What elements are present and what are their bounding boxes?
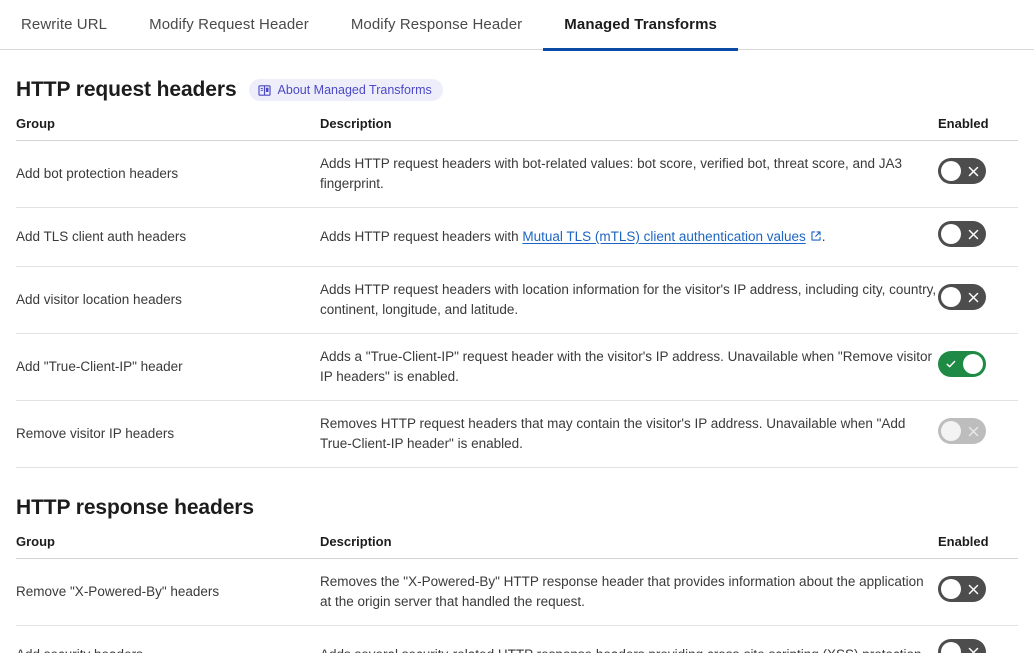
- table-row: Add security headers Adds several securi…: [16, 626, 1018, 653]
- toggle-add-true-client-ip-header[interactable]: [938, 351, 986, 377]
- tab-label: Managed Transforms: [564, 16, 717, 33]
- table-row: Add visitor location headers Adds HTTP r…: [16, 267, 1018, 334]
- description-text-before: Adds HTTP request headers with: [320, 229, 522, 244]
- toggle-remove-x-powered-by-headers[interactable]: [938, 576, 986, 602]
- row-group-label: Add bot protection headers: [16, 141, 320, 208]
- row-description: Adds a "True-Client-IP" request header w…: [320, 334, 938, 401]
- tab-label: Modify Request Header: [149, 16, 309, 33]
- tab-modify-request-header[interactable]: Modify Request Header: [128, 0, 330, 50]
- toggle-knob: [963, 354, 983, 374]
- mtls-documentation-link[interactable]: Mutual TLS (mTLS) client authentication …: [522, 229, 805, 244]
- column-header-enabled: Enabled: [938, 534, 1018, 559]
- table-row: Remove visitor IP headers Removes HTTP r…: [16, 401, 1018, 468]
- table-header-row: Group Description Enabled: [16, 116, 1018, 141]
- row-description: Adds several security-related HTTP respo…: [320, 626, 938, 653]
- section-title: HTTP response headers: [16, 496, 254, 520]
- page-content: HTTP request headers About Managed Trans…: [0, 78, 1034, 653]
- table-row: Add bot protection headers Adds HTTP req…: [16, 141, 1018, 208]
- toggle-knob: [941, 161, 961, 181]
- row-group-label: Remove visitor IP headers: [16, 401, 320, 468]
- column-header-group: Group: [16, 116, 320, 141]
- toggle-knob: [941, 287, 961, 307]
- row-enabled-cell: [938, 141, 1018, 208]
- row-enabled-cell: [938, 208, 1018, 267]
- toggle-knob: [941, 421, 961, 441]
- section-title: HTTP request headers: [16, 78, 237, 102]
- row-group-label: Add "True-Client-IP" header: [16, 334, 320, 401]
- tab-label: Modify Response Header: [351, 16, 522, 33]
- row-description: Adds HTTP request headers with location …: [320, 267, 938, 334]
- table-row: Remove "X-Powered-By" headers Removes th…: [16, 559, 1018, 626]
- table-row: Add "True-Client-IP" header Adds a "True…: [16, 334, 1018, 401]
- toggle-knob: [941, 642, 961, 653]
- external-link-icon[interactable]: [810, 228, 822, 248]
- cross-icon: [962, 576, 984, 602]
- row-group-label: Add TLS client auth headers: [16, 208, 320, 267]
- toggle-add-bot-protection-headers[interactable]: [938, 158, 986, 184]
- row-group-label: Remove "X-Powered-By" headers: [16, 559, 320, 626]
- section-header-request: HTTP request headers About Managed Trans…: [16, 78, 1018, 102]
- row-enabled-cell: [938, 267, 1018, 334]
- row-enabled-cell: [938, 559, 1018, 626]
- column-header-description: Description: [320, 534, 938, 559]
- tab-label: Rewrite URL: [21, 16, 107, 33]
- about-managed-transforms-badge[interactable]: About Managed Transforms: [249, 79, 443, 101]
- tab-managed-transforms[interactable]: Managed Transforms: [543, 0, 738, 50]
- check-icon: [940, 351, 962, 377]
- table-header-row: Group Description Enabled: [16, 534, 1018, 559]
- tab-modify-response-header[interactable]: Modify Response Header: [330, 0, 543, 50]
- toggle-knob: [941, 224, 961, 244]
- row-description: Adds HTTP request headers with bot-relat…: [320, 141, 938, 208]
- tab-bar: Rewrite URL Modify Request Header Modify…: [0, 0, 1034, 50]
- column-header-group: Group: [16, 534, 320, 559]
- toggle-add-visitor-location-headers[interactable]: [938, 284, 986, 310]
- toggle-remove-visitor-ip-headers: [938, 418, 986, 444]
- row-enabled-cell: [938, 334, 1018, 401]
- book-icon: [258, 84, 271, 97]
- cross-icon: [962, 639, 984, 653]
- column-header-description: Description: [320, 116, 938, 141]
- column-header-enabled: Enabled: [938, 116, 1018, 141]
- cross-icon: [962, 158, 984, 184]
- cross-icon: [962, 284, 984, 310]
- table-row: Add TLS client auth headers Adds HTTP re…: [16, 208, 1018, 267]
- cross-icon: [962, 418, 984, 444]
- row-enabled-cell: [938, 401, 1018, 468]
- row-enabled-cell: [938, 626, 1018, 653]
- toggle-add-security-headers[interactable]: [938, 639, 986, 653]
- request-headers-table: Group Description Enabled Add bot protec…: [16, 116, 1018, 468]
- response-headers-table: Group Description Enabled Remove "X-Powe…: [16, 534, 1018, 653]
- toggle-knob: [941, 579, 961, 599]
- badge-label: About Managed Transforms: [278, 84, 432, 97]
- cross-icon: [962, 221, 984, 247]
- row-group-label: Add security headers: [16, 626, 320, 653]
- row-description: Removes HTTP request headers that may co…: [320, 401, 938, 468]
- toggle-add-tls-client-auth-headers[interactable]: [938, 221, 986, 247]
- section-header-response: HTTP response headers: [16, 496, 1018, 520]
- description-text-after: .: [822, 229, 826, 244]
- row-group-label: Add visitor location headers: [16, 267, 320, 334]
- row-description: Removes the "X-Powered-By" HTTP response…: [320, 559, 938, 626]
- tab-rewrite-url[interactable]: Rewrite URL: [0, 0, 128, 50]
- row-description: Adds HTTP request headers with Mutual TL…: [320, 208, 938, 267]
